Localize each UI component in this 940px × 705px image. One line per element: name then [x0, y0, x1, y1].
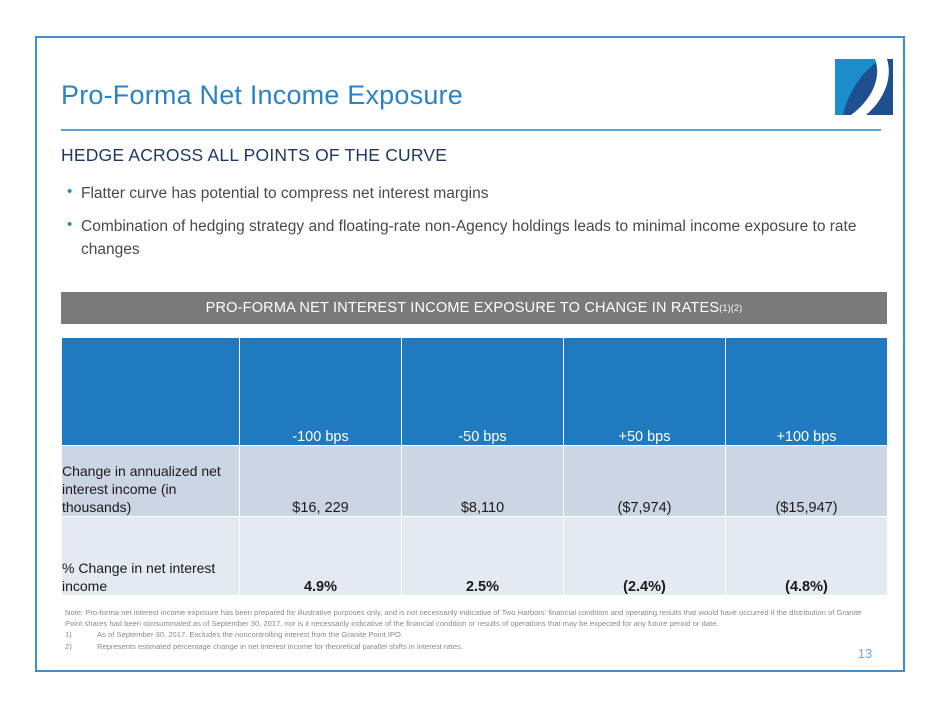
cell-r1-c0: 4.9%	[240, 517, 402, 596]
table-header-row: -100 bps -50 bps +50 bps +100 bps	[62, 338, 888, 446]
slide-frame: Pro-Forma Net Income Exposure HEDGE ACRO…	[35, 36, 905, 672]
bullet-text: Combination of hedging strategy and floa…	[81, 215, 863, 261]
table-banner: PRO-FORMA NET INTEREST INCOME EXPOSURE T…	[61, 292, 887, 324]
bullet-dot-icon: •	[63, 215, 81, 235]
row-label-percent-change: % Change in net interest income	[62, 517, 240, 596]
table-header-cell-plus50: +50 bps	[564, 338, 726, 446]
footnote-number: 2)	[65, 641, 97, 653]
page-title: Pro-Forma Net Income Exposure	[61, 80, 463, 111]
section-subtitle: HEDGE ACROSS ALL POINTS OF THE CURVE	[61, 145, 447, 166]
bullet-text: Flatter curve has potential to compress …	[81, 182, 489, 205]
page-number: 13	[845, 646, 885, 661]
cell-r0-c1: $8,110	[402, 446, 564, 517]
title-divider	[61, 129, 881, 131]
table-row: Change in annualized net interest income…	[62, 446, 888, 517]
footnote-text: As of September 30, 2017. Excludes the n…	[97, 629, 403, 641]
cell-r1-c3: (4.8%)	[726, 517, 888, 596]
table-row: % Change in net interest income 4.9% 2.5…	[62, 517, 888, 596]
cell-r0-c2: ($7,974)	[564, 446, 726, 517]
footnotes: Note: Pro-forma net interest income expo…	[65, 608, 865, 652]
bullet-dot-icon: •	[63, 182, 81, 202]
footnote-text: Represents estimated percentage change i…	[97, 641, 463, 653]
table-header-cell-minus100: -100 bps	[240, 338, 402, 446]
footnote-note: Note: Pro-forma net interest income expo…	[65, 608, 865, 629]
rates-exposure-table: -100 bps -50 bps +50 bps +100 bps Change…	[61, 337, 888, 596]
cell-r0-c3: ($15,947)	[726, 446, 888, 517]
cell-r1-c1: 2.5%	[402, 517, 564, 596]
two-harbors-logo-icon	[835, 59, 893, 115]
slide-header: Pro-Forma Net Income Exposure	[37, 38, 903, 134]
row-label-change-annualized: Change in annualized net interest income…	[62, 446, 240, 517]
footnote-item: 2) Represents estimated percentage chang…	[65, 641, 865, 653]
table-banner-label: PRO-FORMA NET INTEREST INCOME EXPOSURE T…	[206, 300, 720, 316]
bullet-item: • Combination of hedging strategy and fl…	[63, 215, 863, 261]
cell-r0-c0: $16, 229	[240, 446, 402, 517]
cell-r1-c2: (2.4%)	[564, 517, 726, 596]
table-header-cell-blank	[62, 338, 240, 446]
table-header-cell-minus50: -50 bps	[402, 338, 564, 446]
footnote-item: 1) As of September 30, 2017. Excludes th…	[65, 629, 865, 641]
footnote-number: 1)	[65, 629, 97, 641]
bullet-item: • Flatter curve has potential to compres…	[63, 182, 863, 205]
table-header-cell-plus100: +100 bps	[726, 338, 888, 446]
